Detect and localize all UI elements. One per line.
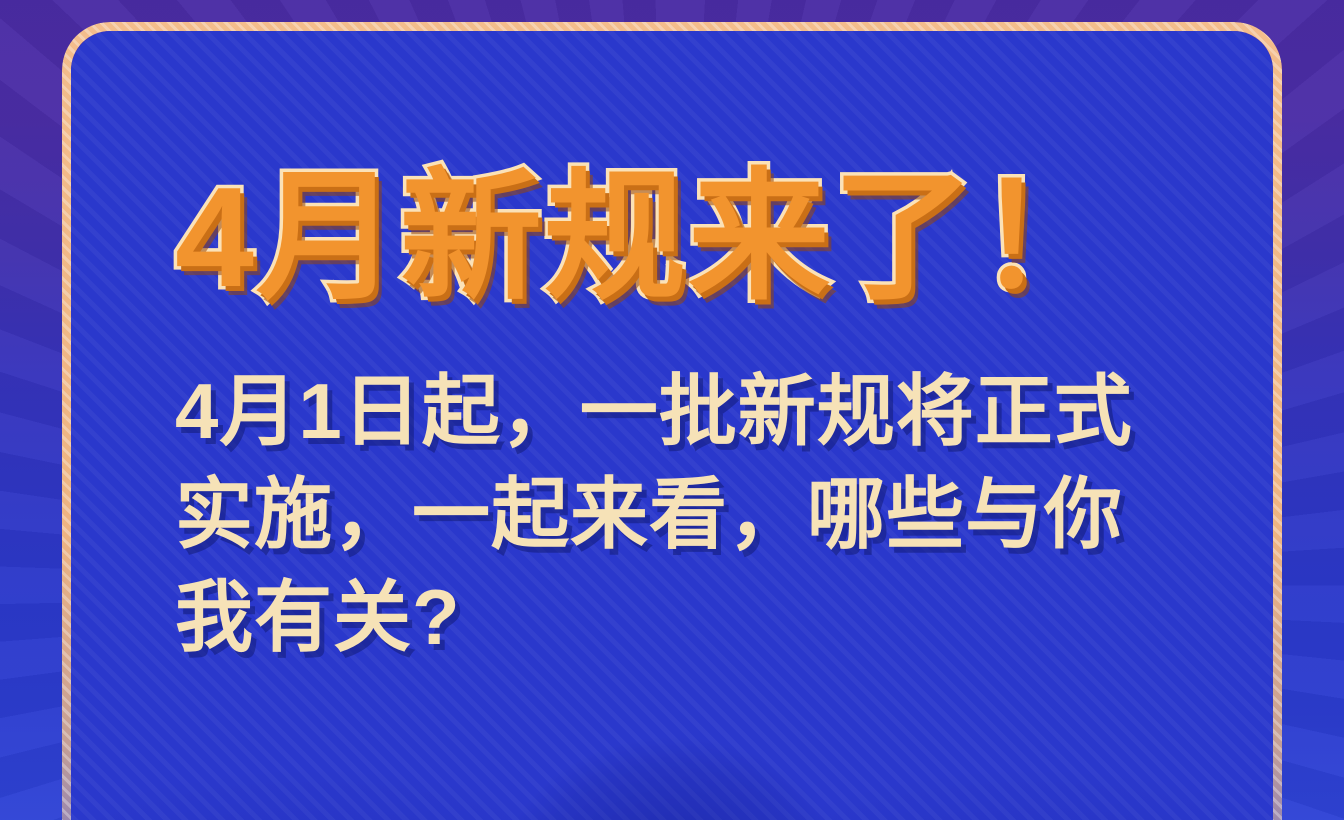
bottom-illustration-silhouette [71,733,1273,820]
poster-body-line-1: 4月1日起，一批新规将正式 [175,360,1203,463]
poster-body-line-3: 我有关? [175,566,1203,669]
poster-card: 4月新规来了！ 4月1日起，一批新规将正式 实施，一起来看，哪些与你 我有关? [62,22,1282,820]
poster-content: 4月新规来了！ 4月1日起，一批新规将正式 实施，一起来看，哪些与你 我有关? [175,161,1203,669]
poster-headline: 4月新规来了！ [175,161,1203,314]
poster-canvas: 4月新规来了！ 4月1日起，一批新规将正式 实施，一起来看，哪些与你 我有关? [0,0,1344,820]
poster-body-line-2: 实施，一起来看，哪些与你 [175,463,1203,566]
poster-body-text: 4月1日起，一批新规将正式 实施，一起来看，哪些与你 我有关? [175,360,1203,669]
card-inner-panel: 4月新规来了！ 4月1日起，一批新规将正式 实施，一起来看，哪些与你 我有关? [71,31,1273,820]
